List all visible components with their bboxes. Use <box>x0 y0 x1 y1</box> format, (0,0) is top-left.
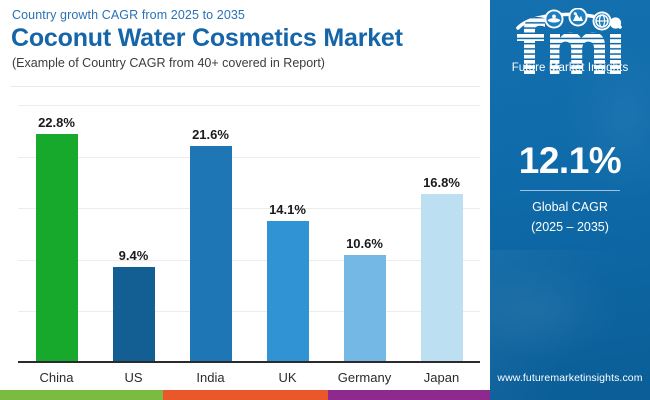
global-cagr-caption: Global CAGR <box>490 200 650 214</box>
bar-germany[interactable]: 10.6% <box>344 255 386 361</box>
x-axis-label-uk: UK <box>278 370 296 385</box>
chart-panel: Country growth CAGR from 2025 to 2035 Co… <box>0 0 490 400</box>
chart-subtitle: (Example of Country CAGR from 40+ covere… <box>12 56 325 70</box>
gridline <box>18 311 480 312</box>
global-cagr-divider <box>520 190 620 191</box>
bar-china[interactable]: 22.8% <box>36 134 78 361</box>
fmi-logo <box>490 8 650 86</box>
stripe-segment-green <box>0 390 163 400</box>
global-cagr-range: (2025 – 2035) <box>490 220 650 234</box>
gridline <box>18 105 480 106</box>
bar-uk[interactable]: 14.1% <box>267 221 309 361</box>
x-axis-label-japan: Japan <box>424 370 459 385</box>
chart-infographic: Country growth CAGR from 2025 to 2035 Co… <box>0 0 650 400</box>
stripe-segment-orange <box>163 390 328 400</box>
bar-value-label: 10.6% <box>346 236 383 251</box>
bar-us[interactable]: 9.4% <box>113 267 155 361</box>
fmi-logo-subtitle: Future Market Insights <box>490 62 650 74</box>
stripe-segment-purple <box>328 390 490 400</box>
bar-chart-plot: 22.8%9.4%21.6%14.1%10.6%16.8% <box>18 95 480 363</box>
global-cagr-value: 12.1% <box>490 140 650 182</box>
logo-icon-circles <box>545 8 612 31</box>
bar-value-label: 21.6% <box>192 127 229 142</box>
website-url[interactable]: www.futuremarketinsights.com <box>490 372 650 384</box>
bar-japan[interactable]: 16.8% <box>421 194 463 361</box>
bar-value-label: 22.8% <box>38 115 75 130</box>
bar-rect <box>113 267 155 361</box>
gridline <box>18 260 480 261</box>
bar-rect <box>267 221 309 361</box>
x-axis-label-germany: Germany <box>338 370 391 385</box>
bar-value-label: 16.8% <box>423 175 460 190</box>
chart-kicker: Country growth CAGR from 2025 to 2035 <box>12 8 245 22</box>
gridline <box>18 157 480 158</box>
bar-rect <box>421 194 463 361</box>
x-axis-label-china: China <box>40 370 74 385</box>
header-divider <box>10 86 480 87</box>
gridline <box>18 208 480 209</box>
bar-rect <box>36 134 78 361</box>
bar-rect <box>190 146 232 361</box>
bar-rect <box>344 255 386 361</box>
page-title: Coconut Water Cosmetics Market <box>11 24 403 53</box>
axis-baseline <box>18 361 480 363</box>
brand-panel: Future Market Insights 12.1% Global CAGR… <box>490 0 650 400</box>
bar-value-label: 14.1% <box>269 202 306 217</box>
x-axis-label-india: India <box>196 370 224 385</box>
bar-value-label: 9.4% <box>119 248 149 263</box>
bar-india[interactable]: 21.6% <box>190 146 232 361</box>
x-axis-label-us: US <box>124 370 142 385</box>
